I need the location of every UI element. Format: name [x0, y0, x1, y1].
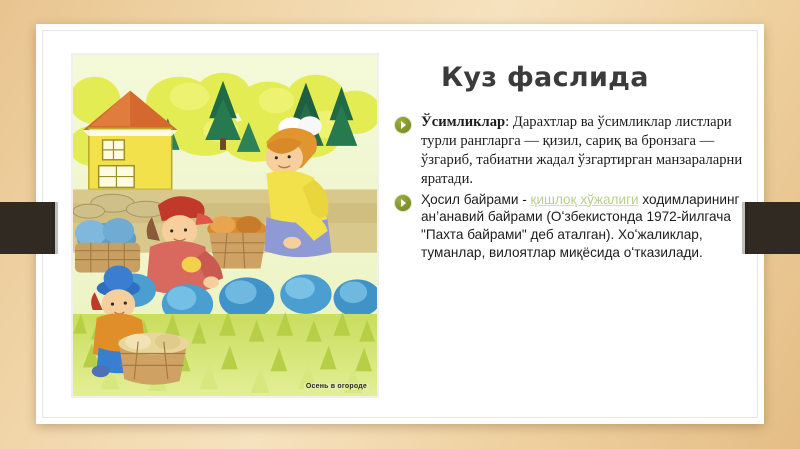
chevron-right-bullet-icon [395, 117, 411, 133]
bullet-text-before-link: Ҳосил байрами - [421, 192, 531, 207]
bullet-text-harvest-festival: Ҳосил байрами - қишлоқ хўжалиги ходимлар… [421, 191, 747, 262]
content-column: Куз фаслида Ўсимликлар: Дарахтлар ва ўси… [395, 45, 747, 407]
bullet-text-plants: Ўсимликлар: Дарахтлар ва ўсимликлар лист… [421, 113, 747, 189]
illustration-caption: Осень в огороде [304, 383, 369, 390]
bullet-lead-label: Ўсимликлар [421, 114, 505, 130]
left-dark-tab [0, 202, 55, 254]
bullet-lead-separator: : [505, 114, 513, 130]
list-item: Ўсимликлар: Дарахтлар ва ўсимликлар лист… [395, 113, 747, 189]
agriculture-hyperlink[interactable]: қишлоқ хўжалиги [531, 192, 639, 207]
autumn-garden-harvest-illustration: Осень в огороде [71, 53, 379, 398]
slide-canvas: Осень в огороде Куз фаслида Ўсимликлар: … [42, 30, 758, 418]
bullet-list: Ўсимликлар: Дарахтлар ва ўсимликлар лист… [395, 113, 747, 262]
list-item: Ҳосил байрами - қишлоқ хўжалиги ходимлар… [395, 191, 747, 262]
slide-frame: Осень в огороде Куз фаслида Ўсимликлар: … [36, 24, 764, 424]
page-title: Куз фаслида [441, 63, 747, 93]
chevron-right-bullet-icon [395, 195, 411, 211]
illustration-artwork [73, 55, 377, 396]
right-dark-tab [745, 202, 800, 254]
